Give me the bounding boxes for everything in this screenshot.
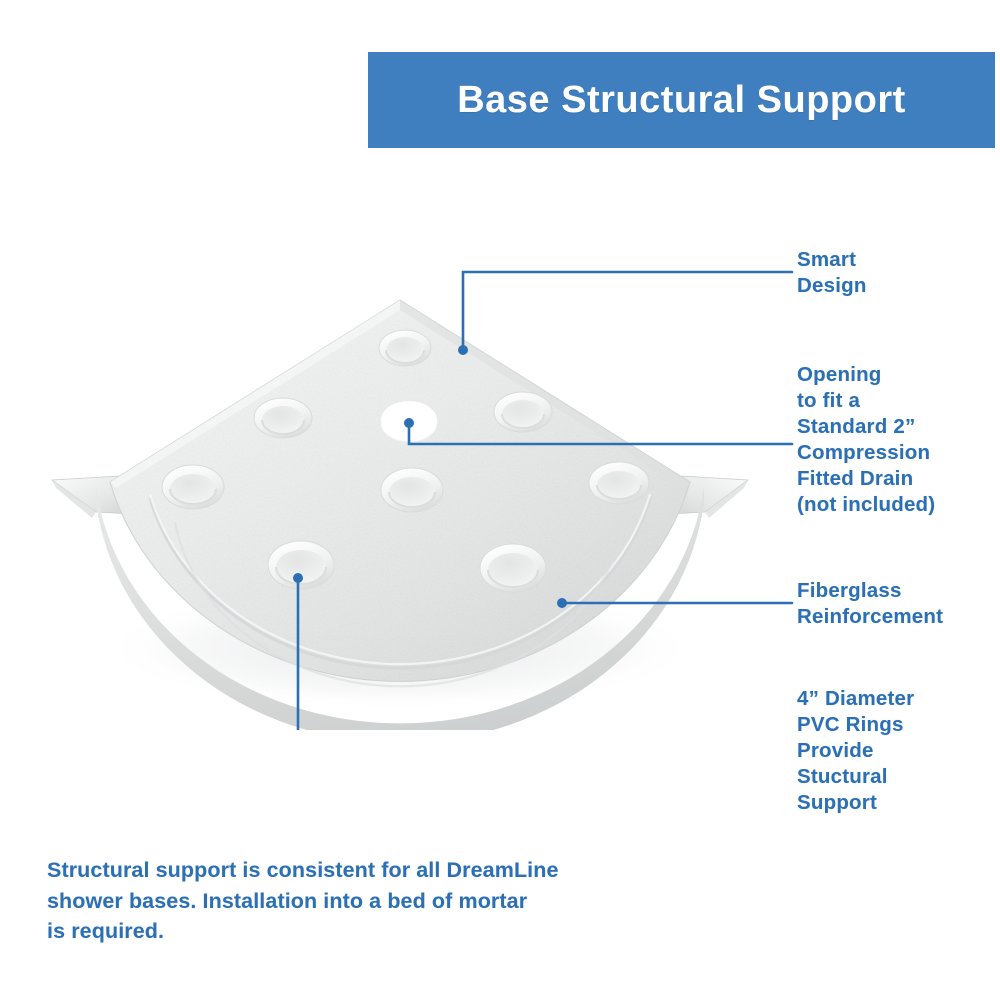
leader-dot-smart-design	[458, 345, 468, 355]
header-band: Base Structural Support	[368, 52, 995, 148]
pvc-ring	[162, 465, 224, 509]
callout-pvc-rings: 4” Diameter PVC Rings Provide Stuctural …	[797, 686, 914, 816]
page-title: Base Structural Support	[368, 52, 995, 148]
pvc-ring	[379, 330, 431, 366]
pvc-ring	[589, 462, 649, 504]
callout-fiberglass-reinforcement: Fiberglass Reinforcement	[797, 578, 943, 630]
footer-caption: Structural support is consistent for all…	[47, 855, 687, 947]
callout-drain-opening: Opening to fit a Standard 2” Compression…	[797, 362, 935, 518]
leader-dot-fiberglass	[557, 598, 567, 608]
pvc-ring	[254, 398, 312, 438]
leader-dot-drain-opening	[404, 418, 414, 428]
diagram-page: Base Structural Support	[0, 0, 1000, 1000]
callout-smart-design: Smart Design	[797, 247, 867, 299]
shower-base-illustration	[0, 250, 800, 730]
pvc-ring	[494, 392, 552, 432]
pvc-ring	[480, 544, 546, 592]
pvc-ring	[381, 468, 443, 512]
leader-smart-design	[463, 272, 792, 350]
leader-dot-pvc-rings	[293, 573, 303, 583]
